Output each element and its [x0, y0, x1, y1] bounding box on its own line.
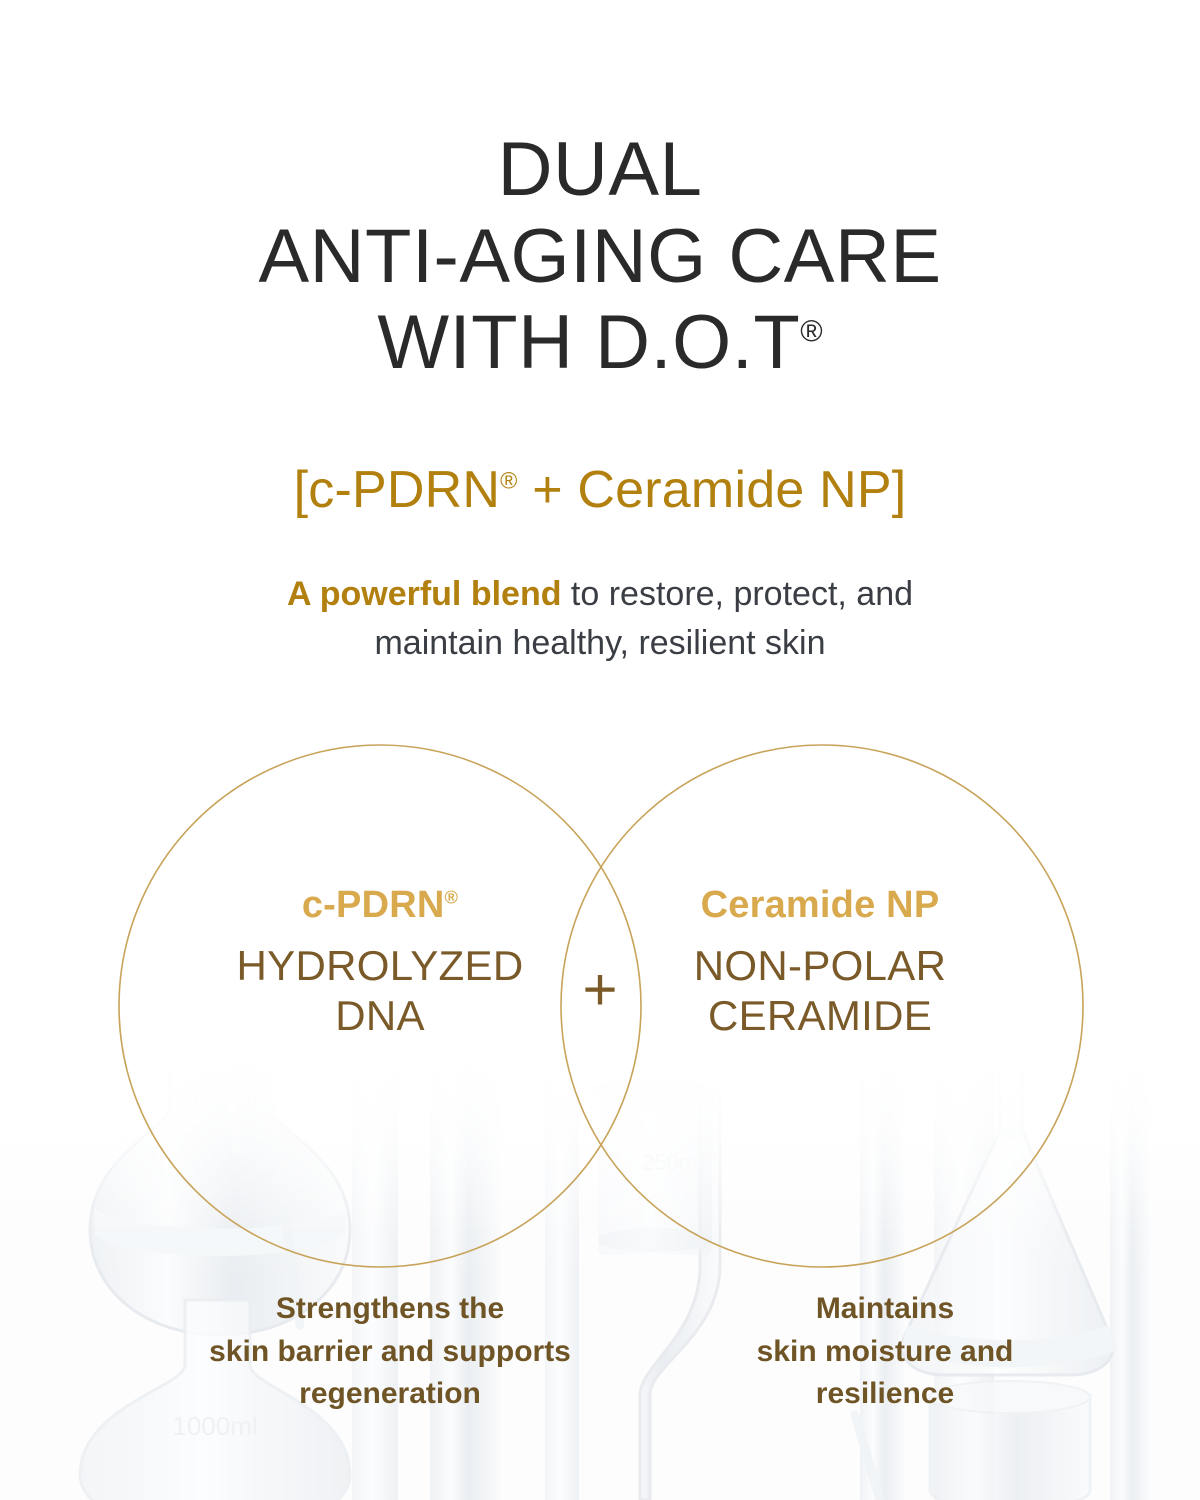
formula-open-bracket: [ — [294, 461, 309, 519]
venn-left-descriptor-line-1: HYDROLYZED — [140, 941, 620, 991]
headline-line-2: ANTI-AGING CARE — [0, 214, 1200, 301]
venn-right-caption: Maintains skin moisture and resilience — [650, 1288, 1120, 1416]
formula-ingredient-1: c-PDRN — [308, 461, 500, 519]
page-title: DUAL ANTI-AGING CARE WITH D.O.T® — [0, 127, 1200, 387]
ingredient-formula-subtitle: [c-PDRN® + Ceramide NP] — [0, 460, 1200, 520]
headline-line-1: DUAL — [0, 127, 1200, 214]
venn-right-descriptor: NON-POLAR CERAMIDE — [580, 941, 1060, 1042]
venn-diagram: c-PDRN® HYDROLYZED DNA + Ceramide NP NON… — [0, 735, 1200, 1280]
venn-right-content: Ceramide NP NON-POLAR CERAMIDE — [580, 885, 1060, 1042]
venn-left-ingredient-text: c-PDRN — [302, 884, 445, 926]
venn-left-ingredient: c-PDRN® — [140, 885, 620, 927]
venn-left-content: c-PDRN® HYDROLYZED DNA — [140, 885, 620, 1042]
tagline: A powerful blend to restore, protect, an… — [0, 570, 1200, 669]
formula-close-bracket: ] — [892, 461, 907, 519]
registered-trademark-icon: ® — [500, 468, 517, 494]
venn-left-caption-line-1: Strengthens the — [110, 1288, 670, 1331]
tagline-line-2: maintain healthy, resilient skin — [0, 619, 1200, 668]
headline-line-3: WITH D.O.T® — [0, 300, 1200, 387]
venn-left-caption-line-2: skin barrier and supports — [110, 1331, 670, 1374]
registered-trademark-icon: ® — [445, 886, 459, 907]
formula-plus: + — [518, 461, 578, 519]
venn-right-descriptor-line-2: CERAMIDE — [580, 991, 1060, 1041]
venn-left-descriptor-line-2: DNA — [140, 991, 620, 1041]
venn-right-ingredient: Ceramide NP — [580, 885, 1060, 927]
venn-right-ingredient-text: Ceramide NP — [701, 884, 940, 926]
formula-ingredient-2: Ceramide NP — [577, 461, 891, 519]
venn-right-caption-line-2: skin moisture and — [650, 1331, 1120, 1374]
tagline-rest-line-1: to restore, protect, and — [561, 575, 913, 613]
venn-left-caption-line-3: regeneration — [110, 1373, 670, 1416]
tagline-highlight: A powerful blend — [287, 575, 562, 613]
venn-right-caption-line-3: resilience — [650, 1373, 1120, 1416]
venn-left-caption: Strengthens the skin barrier and support… — [110, 1288, 670, 1416]
venn-right-caption-line-1: Maintains — [650, 1288, 1120, 1331]
venn-left-descriptor: HYDROLYZED DNA — [140, 941, 620, 1042]
venn-right-descriptor-line-1: NON-POLAR — [580, 941, 1060, 991]
registered-trademark-icon: ® — [800, 315, 822, 349]
product-infographic-page: 500ml 1000ml 250ml — [0, 0, 1200, 1500]
headline-line-3-text: WITH D.O.T — [377, 300, 800, 385]
